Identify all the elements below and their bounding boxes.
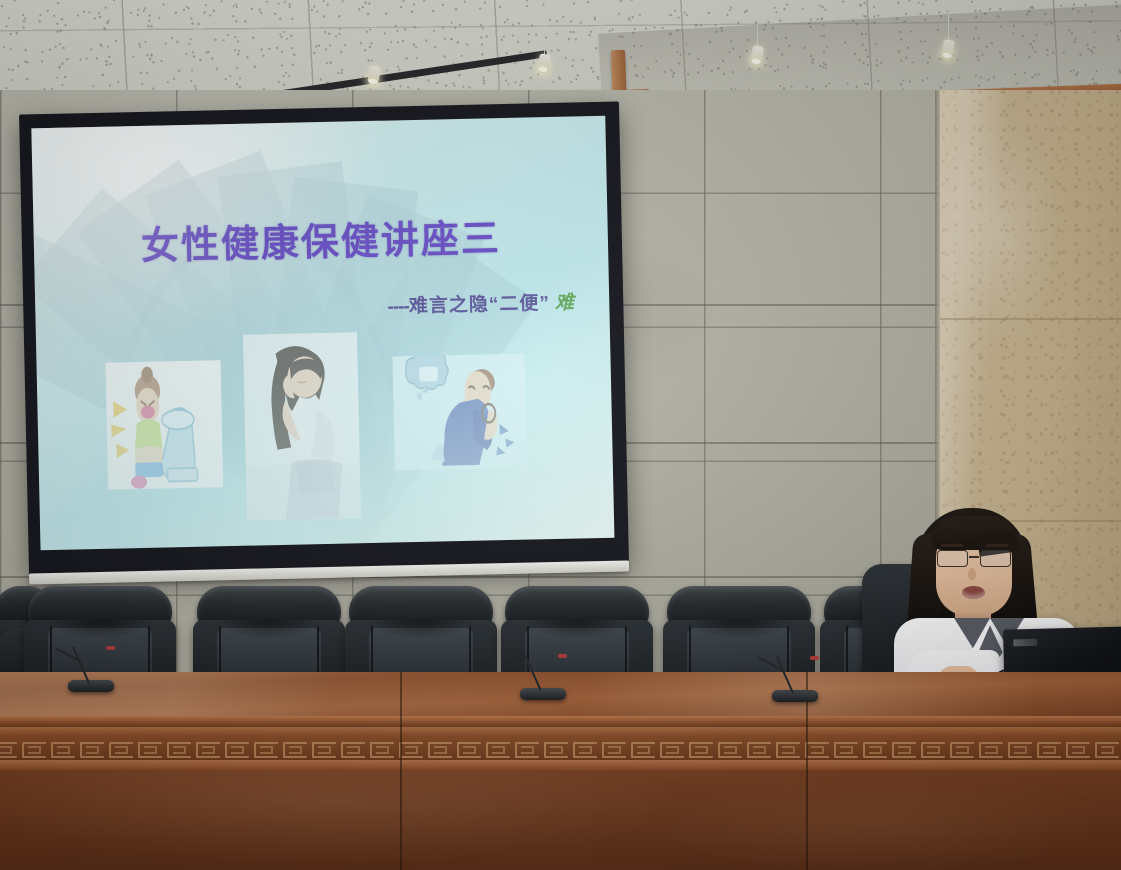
eyeglass-bridge — [969, 556, 979, 558]
presentation-slide: 女性健康保健讲座三 ----难言之隐“二便”难 — [31, 116, 614, 550]
slide-subtitle-highlight: 难 — [555, 292, 575, 313]
presenter-mouth-speaking — [962, 586, 985, 599]
spotlight-wire — [544, 0, 545, 60]
presenter-nose — [968, 568, 976, 580]
microphone-base — [772, 690, 818, 702]
microphone-capsule — [558, 654, 567, 658]
microphone-capsule — [418, 651, 427, 655]
cartoon-cough-illustration — [392, 354, 526, 471]
slide-subtitle-dashes: ---- — [387, 296, 409, 317]
table-edge-lower — [0, 760, 1121, 770]
cartoon-toilet-illustration — [105, 361, 223, 490]
column-seam-1 — [940, 318, 1121, 320]
eyeglasses-icon — [936, 550, 1012, 568]
eyeglass-lens-left — [937, 550, 968, 567]
spotlight-wire — [374, 0, 375, 72]
eyeglass-lens-right — [980, 550, 1011, 567]
slide-subtitle-text: 难言之隐“二便” — [409, 293, 550, 317]
slide-image-cartoon-cough — [392, 354, 526, 471]
table-section-seam — [400, 672, 402, 870]
table-edge-upper — [0, 716, 1121, 727]
microphone-base — [520, 688, 566, 700]
table-edge-mid — [0, 727, 1121, 736]
conference-room-photo: 女性健康保健讲座三 ----难言之隐“二便”难 — [0, 0, 1121, 870]
microphone-capsule — [810, 656, 819, 660]
table-carved-band — [0, 736, 1121, 760]
presenter-eyebrow-right — [986, 544, 1008, 547]
slide-title: 女性健康保健讲座三 — [33, 204, 608, 272]
woman-pain-photo — [243, 332, 362, 520]
presenter-eyebrow-left — [941, 544, 963, 547]
microphone-base — [68, 680, 114, 692]
laptop-brand-logo — [1013, 639, 1037, 647]
table-front-panel — [0, 770, 1121, 870]
microphone-base — [380, 685, 426, 697]
projection-screen: 女性健康保健讲座三 ----难言之隐“二便”难 — [19, 102, 629, 575]
microphone-capsule — [106, 646, 115, 650]
slide-image-cartoon-toilet — [105, 361, 223, 490]
spotlight-wire — [757, 0, 758, 52]
slide-image-woman-pain — [243, 332, 362, 520]
slide-subtitle: ----难言之隐“二便”难 — [387, 287, 575, 318]
conference-table — [0, 672, 1121, 870]
greek-key-pattern — [0, 739, 1121, 757]
